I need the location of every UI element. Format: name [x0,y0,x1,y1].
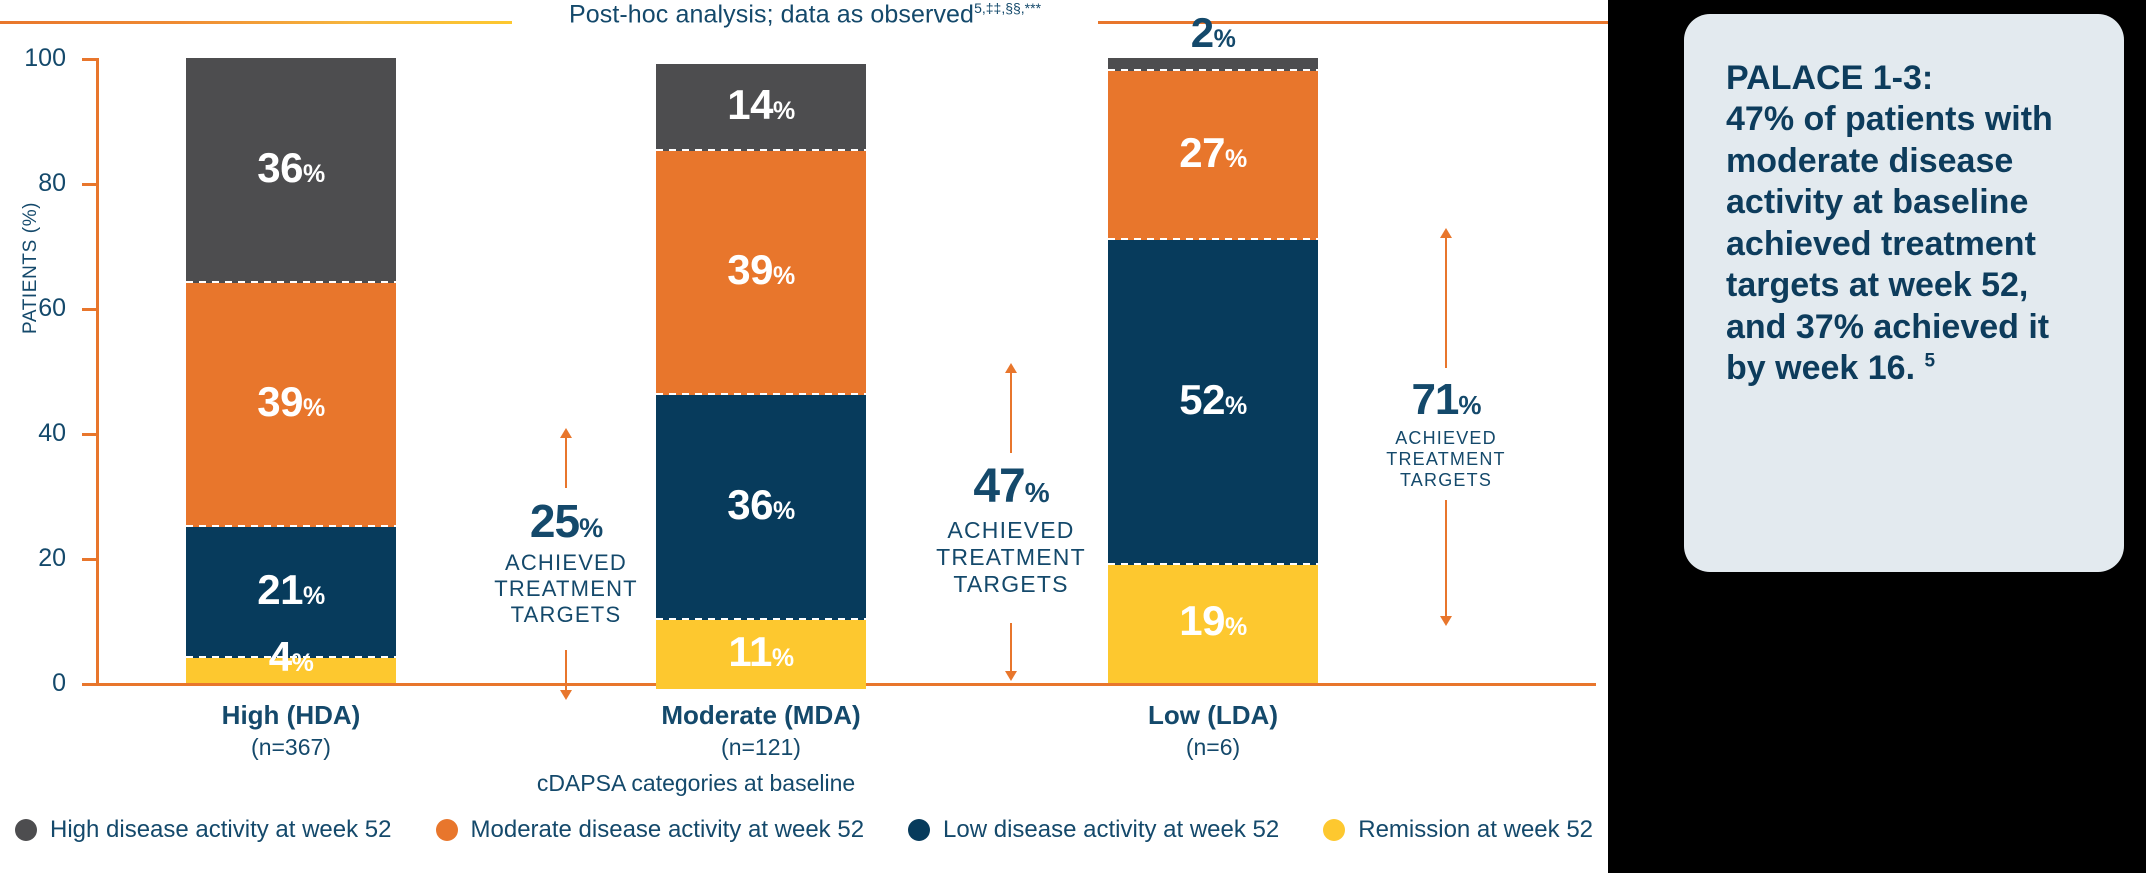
segment-moderate-activity[interactable]: 27% [1108,71,1318,240]
annotation-value: 71% [1361,378,1531,422]
chart-plot-area: 100 80 60 40 20 0 PATIENTS (%) 36% 39% 2… [96,58,1596,686]
annotation-label-line2: TREATMENT [476,576,656,602]
segment-divider-dashed [656,149,866,151]
y-tick-label-40: 40 [6,421,66,446]
percent-symbol: % [1225,613,1247,641]
slide-canvas: Post-hoc analysis; data as observed5,‡‡,… [0,0,1608,873]
percent-symbol: % [1214,25,1236,53]
y-tick-label-100: 100 [6,46,66,71]
segment-value: 36% [727,484,794,532]
category-n: (n=6) [1053,732,1373,762]
callout-title: PALACE 1-3: [1726,59,1933,97]
segment-number: 39 [727,246,773,293]
y-tick-label-0: 0 [6,671,66,696]
header-title-superscript: 5,‡‡,§§,*** [974,0,1041,16]
segment-value: 2% [1108,12,1318,60]
annotation-arrowhead-up [560,428,572,438]
annotation-arrowhead-down [1005,671,1017,681]
segment-number: 4 [269,633,292,680]
segment-low-activity[interactable]: 36% [656,395,866,620]
segment-divider-dashed [656,393,866,395]
annotation-arrowhead-up [1440,228,1452,238]
annotation-number: 25 [530,495,579,547]
bar-moderate-mda[interactable]: 14% 39% 36% 11% [656,64,866,683]
category-n: (n=121) [601,732,921,762]
slide-root: Post-hoc analysis; data as observed5,‡‡,… [0,0,2146,873]
annotation-arrow-shaft-up [1445,238,1447,368]
segment-number: 36 [257,144,303,191]
legend-item-moderate[interactable]: Moderate disease activity at week 52 [436,816,865,844]
percent-symbol: % [1458,390,1480,420]
percent-symbol: % [773,497,795,525]
segment-remission[interactable]: 19% [1108,565,1318,683]
annotation-label-line3: TARGETS [476,602,656,628]
annotation-71-percent: 71% ACHIEVED TREATMENT TARGETS [1361,378,1531,492]
category-name: Low (LDA) [1053,698,1373,732]
segment-divider-dashed [656,618,866,620]
legend-label: Low disease activity at week 52 [943,816,1279,844]
segment-divider-dashed [1108,238,1318,240]
legend-item-remission[interactable]: Remission at week 52 [1323,816,1593,844]
percent-symbol: % [1225,145,1247,173]
legend-swatch-icon [15,819,37,841]
legend-label: Remission at week 52 [1358,816,1593,844]
annotation-arrow-shaft-down [1445,500,1447,618]
y-axis-title: PATIENTS (%) [20,94,42,334]
y-tick-60 [82,308,96,311]
segment-divider-dashed [186,525,396,527]
y-tick-100 [82,58,96,61]
percent-symbol: % [773,97,795,125]
callout-panel: PALACE 1-3:47% of patients with moderate… [1684,14,2124,572]
annotation-value: 47% [916,463,1106,511]
annotation-label-line3: TARGETS [1361,470,1531,491]
legend-label: High disease activity at week 52 [50,816,392,844]
segment-value: 21% [257,569,324,617]
callout-body: 47% of patients with moderate disease ac… [1726,100,2053,387]
annotation-arrowhead-down [560,690,572,700]
header-rule-left [0,21,512,24]
legend-item-low[interactable]: Low disease activity at week 52 [908,816,1279,844]
y-tick-label-20: 20 [6,546,66,571]
x-category-low-lda: Low (LDA) (n=6) [1053,698,1373,762]
segment-remission[interactable]: 4% [186,658,396,683]
y-axis-line [96,58,99,686]
legend-swatch-icon [436,819,458,841]
annotation-label-line3: TARGETS [916,571,1106,598]
bar-low-lda[interactable]: 2% 27% 52% 19% [1108,58,1318,683]
segment-number: 11 [728,628,771,675]
annotation-25-percent: 25% ACHIEVED TREATMENT TARGETS [476,498,656,628]
segment-moderate-activity[interactable]: 39% [186,283,396,527]
segment-value: 27% [1179,132,1246,180]
annotation-number: 71 [1411,375,1458,424]
legend-label: Moderate disease activity at week 52 [471,816,865,844]
percent-symbol: % [292,649,314,677]
segment-value: 39% [727,249,794,297]
legend-swatch-icon [1323,819,1345,841]
segment-moderate-activity[interactable]: 39% [656,151,866,395]
segment-divider-dashed [186,281,396,283]
segment-value: 52% [1179,379,1246,427]
y-tick-0 [82,683,96,686]
annotation-arrowhead-up [1005,363,1017,373]
x-category-moderate-mda: Moderate (MDA) (n=121) [601,698,921,762]
percent-symbol: % [303,394,325,422]
segment-number: 27 [1179,129,1225,176]
percent-symbol: % [1225,392,1247,420]
y-tick-40 [82,433,96,436]
segment-high-activity[interactable]: 36% [186,58,396,283]
segment-number: 39 [257,378,303,425]
bar-high-hda[interactable]: 36% 39% 21% 4% [186,58,396,683]
category-n: (n=367) [131,732,451,762]
slide-header: Post-hoc analysis; data as observed5,‡‡,… [0,0,1608,34]
y-tick-20 [82,558,96,561]
annotation-arrow-shaft-down [565,650,567,692]
segment-low-activity[interactable]: 52% [1108,240,1318,565]
segment-number: 19 [1179,597,1225,644]
segment-value: 11% [728,631,793,679]
percent-symbol: % [1025,477,1049,508]
annotation-arrow-shaft-up [565,438,567,488]
category-name: High (HDA) [131,698,451,732]
segment-number: 14 [727,81,773,128]
percent-symbol: % [773,262,795,290]
segment-divider-dashed [1108,563,1318,565]
annotation-number: 47 [973,460,1024,513]
header-title-text: Post-hoc analysis; data as observed [569,0,974,28]
annotation-label-line1: ACHIEVED [476,550,656,576]
segment-number: 52 [1179,376,1225,423]
segment-high-activity[interactable]: 14% [656,64,866,151]
legend-swatch-icon [908,819,930,841]
x-category-high-hda: High (HDA) (n=367) [131,698,451,762]
percent-symbol: % [772,644,794,672]
segment-number: 36 [727,481,773,528]
callout-superscript: 5 [1924,351,1935,372]
segment-value: 4% [269,636,314,684]
segment-value: 14% [727,84,794,132]
legend-item-high[interactable]: High disease activity at week 52 [15,816,392,844]
annotation-arrowhead-down [1440,616,1452,626]
annotation-label-line1: ACHIEVED [916,517,1106,544]
segment-remission[interactable]: 11% [656,620,866,689]
segment-divider-dashed [1108,69,1318,71]
category-name: Moderate (MDA) [601,698,921,732]
header-title: Post-hoc analysis; data as observed5,‡‡,… [512,0,1098,29]
percent-symbol: % [303,582,325,610]
annotation-value: 25% [476,498,656,544]
annotation-arrow-shaft-down [1010,623,1012,673]
callout-text: PALACE 1-3:47% of patients with moderate… [1726,58,2082,390]
annotation-47-percent: 47% ACHIEVED TREATMENT TARGETS [916,463,1106,598]
y-tick-80 [82,183,96,186]
segment-number: 21 [257,566,303,613]
segment-value: 39% [257,381,324,429]
x-axis-title: cDAPSA categories at baseline [396,770,996,797]
percent-symbol: % [303,160,325,188]
segment-value: 19% [1179,600,1246,648]
annotation-label-line2: TREATMENT [1361,449,1531,470]
annotation-label-line2: TREATMENT [916,544,1106,571]
segment-value: 36% [257,147,324,195]
chart-legend: High disease activity at week 52 Moderat… [0,816,1608,844]
segment-number: 2 [1191,9,1214,56]
annotation-arrow-shaft-up [1010,373,1012,453]
percent-symbol: % [579,513,602,543]
annotation-label-line1: ACHIEVED [1361,428,1531,449]
